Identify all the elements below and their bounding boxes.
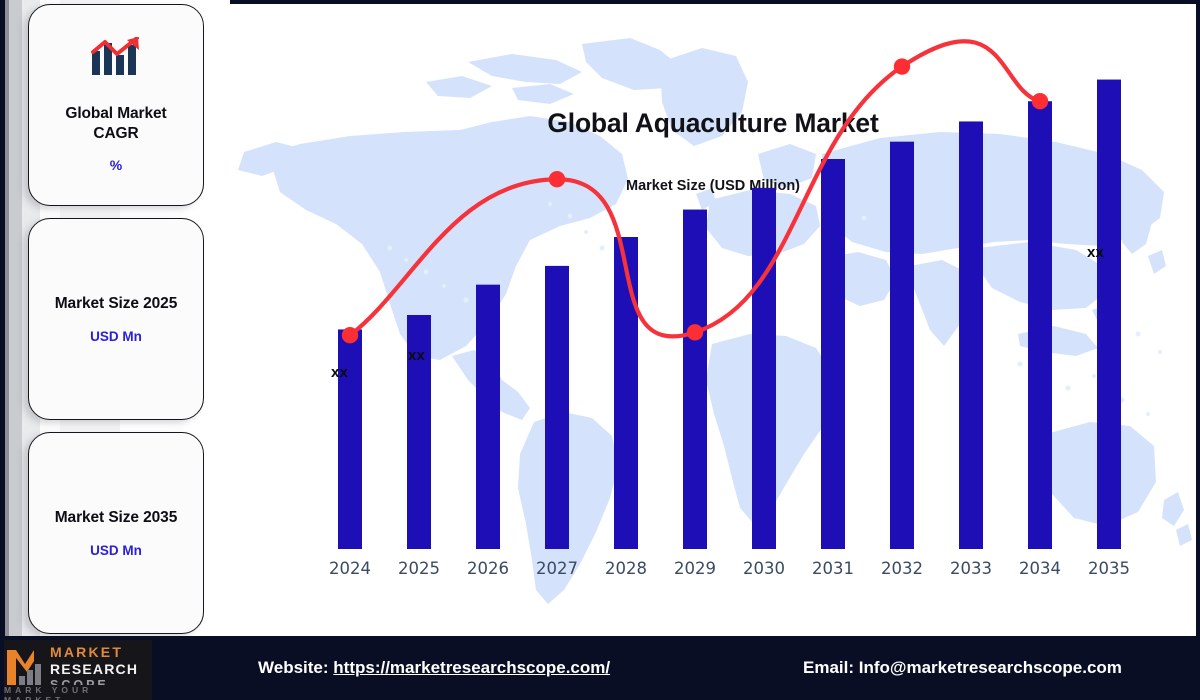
x-tick-2025: 2025 [384, 559, 454, 578]
x-tick-2035: 2035 [1074, 559, 1144, 578]
x-tick-2033: 2033 [936, 559, 1006, 578]
data-label-2035: xx [1087, 244, 1104, 261]
bar-2028 [614, 237, 638, 549]
bar-2029 [683, 210, 707, 549]
brand-logo[interactable]: MARKET RESEARCH SCOPE MARK YOUR MARKET [4, 640, 152, 696]
card-title: Global Market CAGR [65, 104, 166, 144]
footer-email[interactable]: Email: Info@marketresearchscope.com [803, 658, 1122, 678]
x-tick-2029: 2029 [660, 559, 730, 578]
card-market-size-2035[interactable]: Market Size 2035 USD Mn [28, 432, 204, 634]
data-label-2024: xx [331, 364, 348, 381]
card-subtitle: USD Mn [90, 543, 142, 558]
data-label-2025: xx [408, 347, 425, 364]
card-title: Market Size 2025 [55, 294, 177, 314]
logo-line-1: MARKET [50, 645, 138, 659]
bar-2032 [890, 142, 914, 549]
trend-marker-2024 [342, 327, 358, 343]
trend-marker-2027 [549, 171, 565, 187]
bar-chart-plot [230, 4, 1196, 636]
trend-marker-2032 [894, 58, 910, 74]
sidebar-metric-cards: Global Market CAGR % Market Size 2025 US… [0, 0, 230, 640]
x-tick-2032: 2032 [867, 559, 937, 578]
chart-panel: Global Aquaculture Market Market Size (U… [230, 4, 1196, 636]
card-subtitle: % [110, 157, 122, 173]
x-tick-2028: 2028 [591, 559, 661, 578]
x-tick-2031: 2031 [798, 559, 868, 578]
logo-tagline: MARK YOUR MARKET [4, 685, 152, 700]
bar-2034 [1028, 101, 1052, 549]
card-title: Market Size 2035 [55, 508, 177, 528]
bar-2030 [752, 188, 776, 549]
trend-marker-2034 [1032, 93, 1048, 109]
footer-website-url[interactable]: https://marketresearchscope.com/ [333, 658, 610, 677]
bar-2033 [959, 121, 983, 549]
bar-chart-growth-icon [89, 37, 143, 82]
bar-2031 [821, 159, 845, 549]
x-tick-2024: 2024 [315, 559, 385, 578]
card-global-market-cagr[interactable]: Global Market CAGR % [28, 4, 204, 206]
trend-marker-2029 [687, 324, 703, 340]
footer-website[interactable]: Website: https://marketresearchscope.com… [258, 658, 610, 678]
bar-2026 [476, 285, 500, 549]
x-tick-2030: 2030 [729, 559, 799, 578]
card-market-size-2025[interactable]: Market Size 2025 USD Mn [28, 218, 204, 420]
card-subtitle: USD Mn [90, 329, 142, 344]
x-tick-2027: 2027 [522, 559, 592, 578]
logo-line-2: RESEARCH [50, 662, 138, 676]
bar-2024 [338, 329, 362, 549]
bar-2027 [545, 266, 569, 549]
infographic-page: Global Market CAGR % Market Size 2025 US… [0, 0, 1200, 700]
x-tick-2026: 2026 [453, 559, 523, 578]
bar-2035 [1097, 80, 1121, 549]
footer-bar: MARKET RESEARCH SCOPE MARK YOUR MARKET W… [0, 636, 1200, 700]
footer-website-label: Website: [258, 658, 329, 677]
x-tick-2034: 2034 [1005, 559, 1075, 578]
